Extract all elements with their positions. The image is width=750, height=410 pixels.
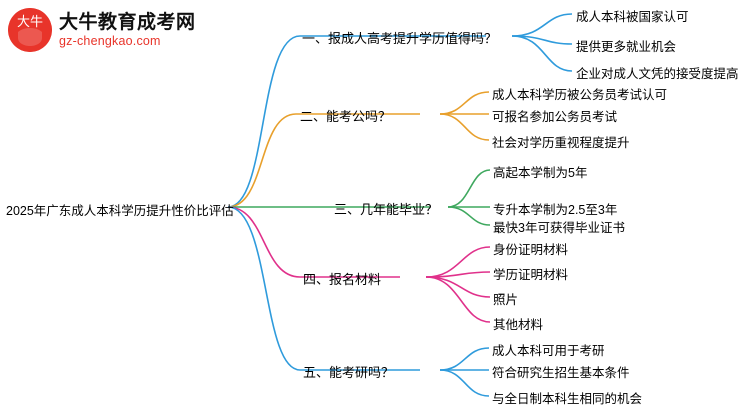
leaf-label-1-1: 成人本科被国家认可	[576, 6, 689, 25]
connector-branch-2-leaf-1	[440, 92, 489, 114]
badge-text-top: 大牛	[17, 14, 43, 29]
branch-label-2: 二、能考公吗？	[300, 106, 391, 125]
leaf-label-5-1: 成人本科可用于考研	[492, 340, 605, 359]
connector-branch-3-leaf-1	[448, 170, 490, 207]
branch-label-3: 三、几年能毕业？	[334, 199, 438, 218]
leaf-label-4-3: 照片	[493, 289, 518, 308]
bull-head-icon: 大牛	[8, 8, 52, 52]
connector-branch-1-leaf-1	[512, 14, 572, 36]
brand-text: 大牛教育成考网 gz-chengkao.com	[59, 12, 196, 49]
leaf-label-3-3: 最快3年可获得毕业证书	[493, 217, 625, 236]
branch-label-5: 五、能考研吗？	[303, 362, 394, 381]
branch-label-4: 四、报名材料	[303, 269, 381, 288]
leaf-label-5-3: 与全日制本科生相同的机会	[492, 388, 642, 407]
brand-url: gz-chengkao.com	[59, 34, 196, 49]
connector-branch-2-leaf-3	[440, 114, 489, 140]
mindmap-canvas: 大牛 大牛教育成考网 gz-chengkao.com 2025年广东成人本科学历…	[0, 0, 750, 410]
connector-root-branch-5	[228, 207, 300, 370]
leaf-label-5-2: 符合研究生招生基本条件	[492, 362, 630, 381]
connector-branch-5-leaf-1	[440, 348, 489, 370]
site-watermark: 大牛 大牛教育成考网 gz-chengkao.com	[8, 6, 196, 54]
brand-title: 大牛教育成考网	[59, 12, 196, 34]
connector-branch-1-leaf-3	[512, 36, 572, 71]
leaf-label-2-3: 社会对学历重视程度提升	[492, 132, 630, 151]
connector-branch-4-leaf-4	[426, 277, 490, 322]
leaf-label-2-1: 成人本科学历被公务员考试认可	[492, 84, 667, 103]
leaf-label-3-2: 专升本学制为2.5至3年	[493, 199, 617, 218]
leaf-label-3-1: 高起本学制为5年	[493, 162, 587, 181]
leaf-label-4-4: 其他材料	[493, 314, 543, 333]
leaf-label-4-2: 学历证明材料	[493, 264, 568, 283]
brand-badge-icon: 大牛	[8, 8, 52, 52]
leaf-label-1-3: 企业对成人文凭的接受度提高	[576, 63, 739, 82]
connector-branch-5-leaf-3	[440, 370, 489, 396]
connector-branch-3-leaf-3	[448, 207, 490, 225]
connector-branch-4-leaf-3	[426, 277, 490, 297]
leaf-label-4-1: 身份证明材料	[493, 239, 568, 258]
connector-root-branch-4	[228, 207, 300, 277]
leaf-label-1-2: 提供更多就业机会	[576, 36, 676, 55]
connector-branch-4-leaf-2	[426, 272, 490, 277]
leaf-label-2-2: 可报名参加公务员考试	[492, 106, 617, 125]
connector-root-branch-1	[228, 36, 300, 207]
branch-label-1: 一、报成人高考提升学历值得吗？	[302, 28, 497, 47]
mindmap-root-label: 2025年广东成人本科学历提升性价比评估	[6, 200, 234, 219]
